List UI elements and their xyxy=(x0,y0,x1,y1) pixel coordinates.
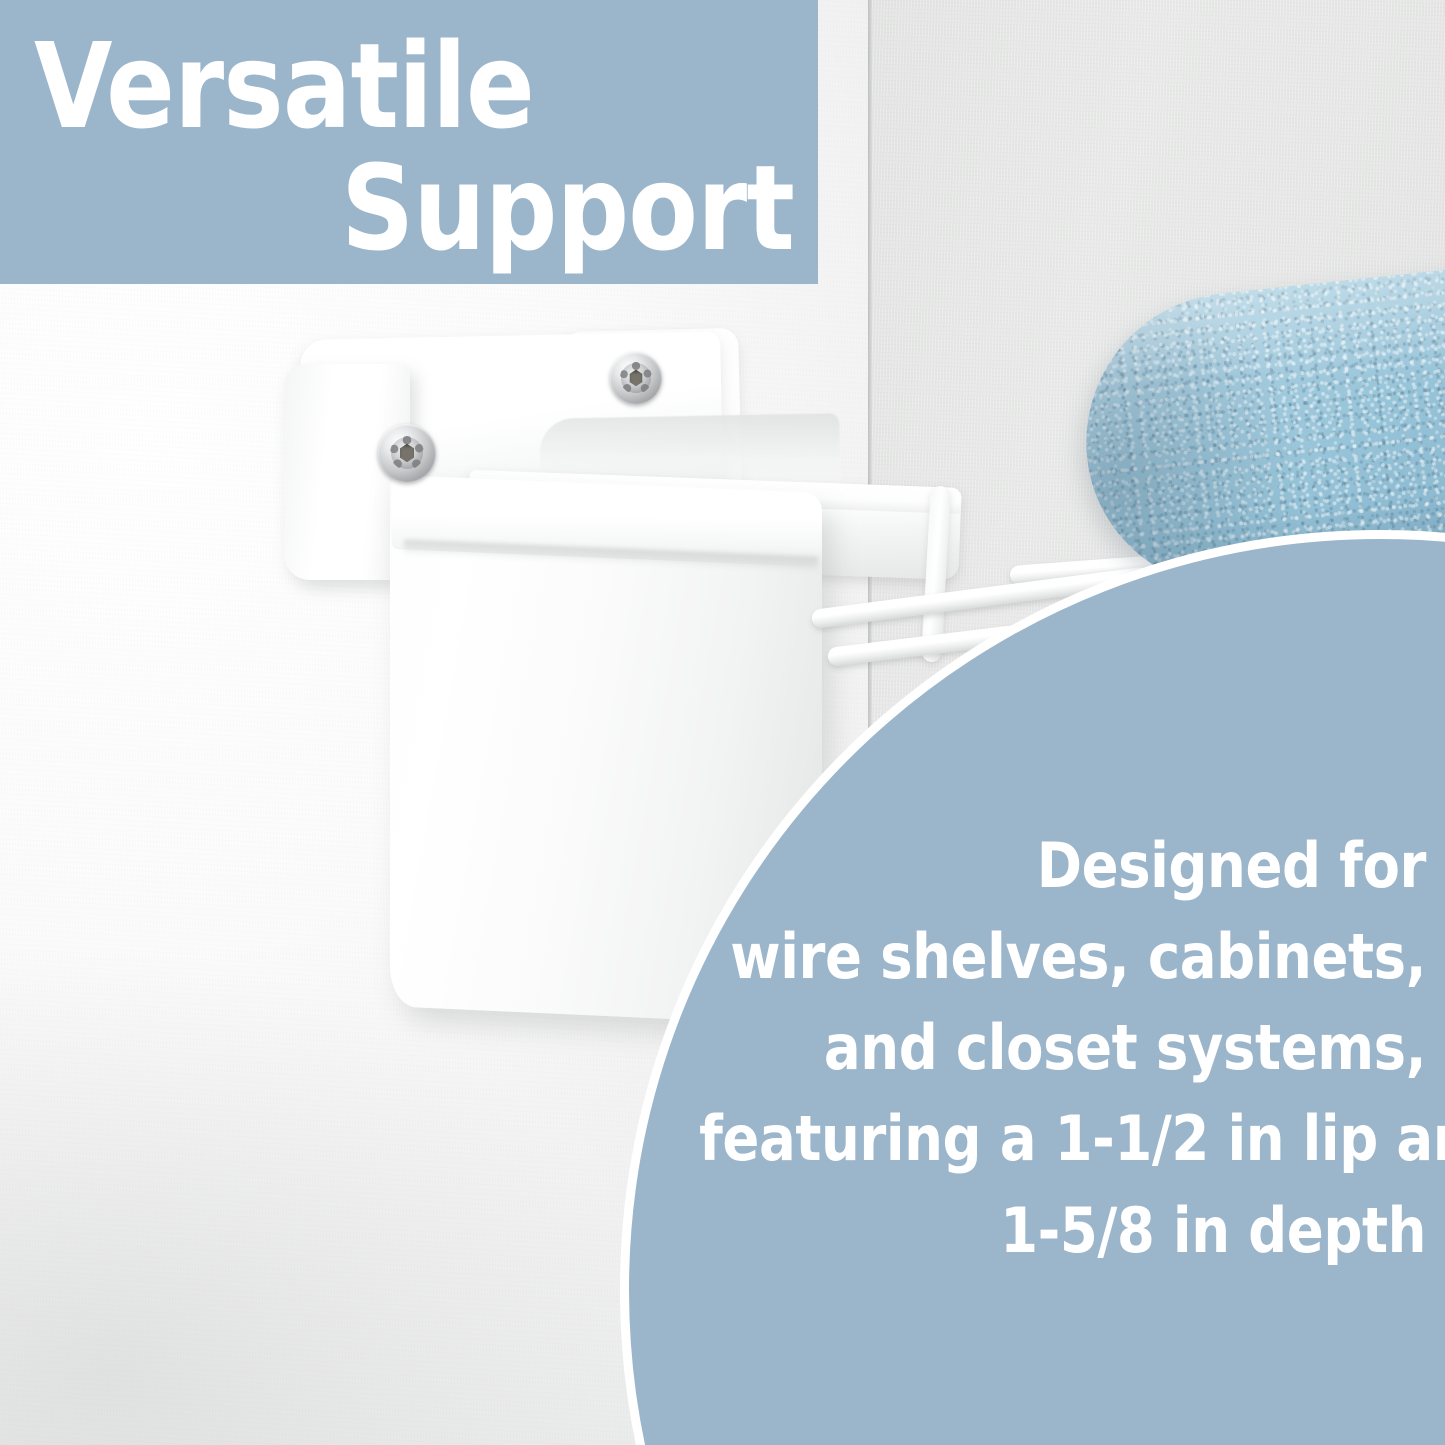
headline-line-2: Support xyxy=(140,148,794,270)
callout-line-4: featuring a 1-1/2 in lip and xyxy=(699,1093,1426,1184)
header-banner: Versatile Support xyxy=(0,0,818,284)
callout-text-block: Designed for wire shelves, cabinets, and… xyxy=(600,820,1426,1276)
product-marketing-image: Designed for wire shelves, cabinets, and… xyxy=(0,0,1445,1445)
callout-line-5: 1-5/8 in depth xyxy=(699,1185,1426,1276)
headline-line-1: Versatile xyxy=(34,26,688,148)
callout-line-3: and closet systems, xyxy=(699,1002,1426,1093)
callout-line-2: wire shelves, cabinets, xyxy=(699,911,1426,1002)
callout-line-1: Designed for xyxy=(699,820,1426,911)
